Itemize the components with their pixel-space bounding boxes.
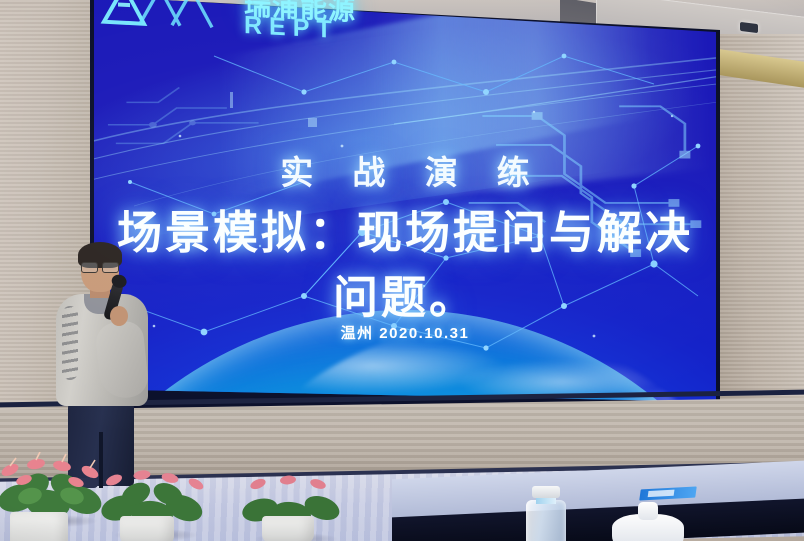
brand-name-en: REPT <box>244 11 339 45</box>
presentation-photo: 实 战 演 练 场景模拟：现场提问与解决问题。 温州 2020.10.31 瑞浦… <box>0 0 804 541</box>
slide-meta: 温州 2020.10.31 <box>94 322 716 343</box>
anthurium-plant <box>236 470 348 541</box>
covered-cup <box>612 502 684 541</box>
presenter-hand <box>110 306 128 326</box>
slide-subtitle: 场景模拟：现场提问与解决问题。 <box>94 196 716 326</box>
glasses-icon <box>81 262 119 271</box>
plant-pot <box>10 512 68 541</box>
plant-pot <box>262 516 314 541</box>
slide-title: 实 战 演 练 <box>94 146 716 194</box>
plant-pot <box>120 516 174 541</box>
rept-triangle-logo-icon <box>94 0 238 37</box>
presenter <box>48 246 160 482</box>
anthurium-plant <box>96 466 214 541</box>
presenter-jacket-stripe <box>62 306 78 380</box>
slide-text-block: 实 战 演 练 场景模拟：现场提问与解决问题。 温州 2020.10.31 <box>94 0 716 410</box>
water-bottle <box>524 486 568 541</box>
led-screen: 实 战 演 练 场景模拟：现场提问与解决问题。 温州 2020.10.31 <box>94 0 716 410</box>
